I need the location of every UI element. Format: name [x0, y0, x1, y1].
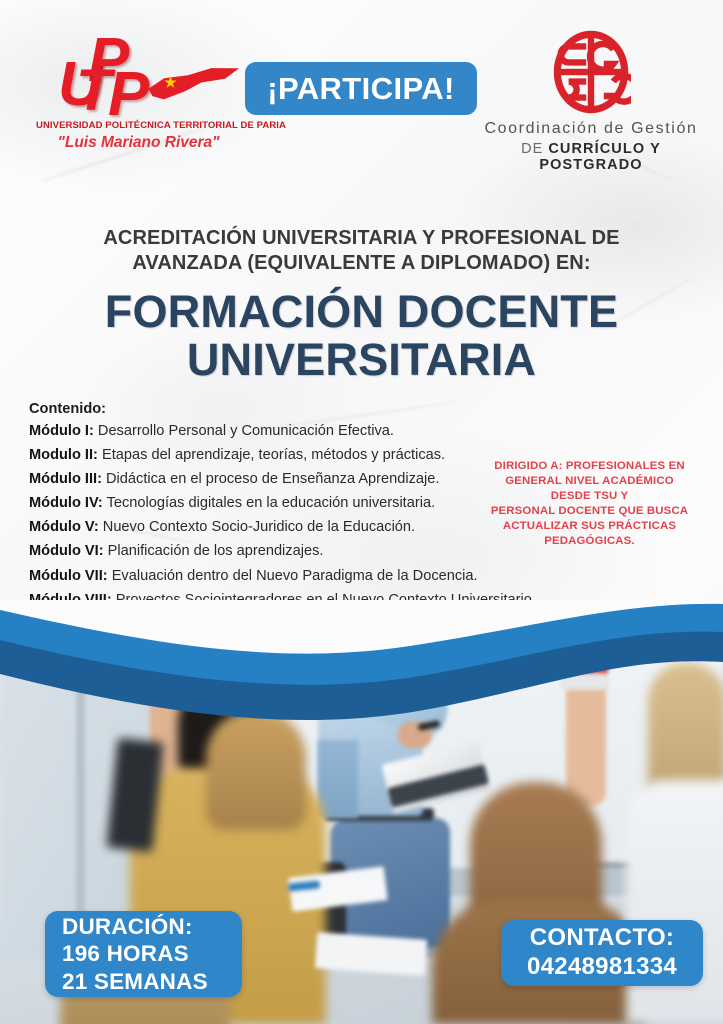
module-label: Módulo III:	[29, 471, 102, 487]
content-heading: Contenido:	[29, 401, 559, 417]
contact-label: CONTACTO:	[530, 924, 674, 953]
contact-badge[interactable]: CONTACTO: 04248981334	[501, 920, 703, 986]
module-text: Evaluación dentro del Nuevo Paradigma de…	[108, 568, 478, 584]
watch-right	[560, 674, 608, 690]
coordination-title: Coordinación de Gestión	[481, 120, 701, 138]
duration-line-2: 196 HORAS	[62, 940, 242, 967]
photo-top-blend	[0, 600, 723, 670]
coordination-logo: Coordinación de Gestión DE CURRÍCULO Y P…	[481, 26, 701, 158]
module-row: Módulo I: Desarrollo Personal y Comunica…	[29, 424, 559, 439]
university-subtitle: "Luis Mariano Rivera"	[36, 134, 241, 152]
uptp-monogram-icon: U P T P	[36, 28, 241, 120]
module-text: Etapas del aprendizaje, teorías, métodos…	[98, 447, 445, 463]
student-head-blond	[206, 710, 306, 830]
module-label: Modulo II:	[29, 447, 98, 463]
audience-note: DIRIGIDO A: PROFESIONALES ENGENERAL NIVE…	[472, 459, 707, 549]
module-text: Planificación de los aprendizajes.	[104, 543, 324, 559]
coordination-subtitle-main: CURRÍCULO Y POSTGRADO	[539, 141, 661, 173]
student-white-shirt	[626, 780, 723, 1024]
audience-line: ACTUALIZAR SUS PRÁCTICAS	[472, 519, 707, 534]
module-row: Módulo VII: Evaluación dentro del Nuevo …	[29, 569, 559, 584]
coordination-subtitle-prefix: DE	[521, 141, 548, 157]
university-name: UNIVERSIDAD POLITÉCNICA TERRITORIAL DE P…	[36, 120, 241, 131]
university-logo: U P T P UNIVERSIDAD POLITÉCNICA TERRITOR…	[36, 28, 241, 163]
duration-badge: DURACIÓN: 196 HORAS 21 SEMANAS	[45, 911, 242, 997]
poster-header: U P T P UNIVERSIDAD POLITÉCNICA TERRITOR…	[0, 0, 723, 175]
module-text: Tecnologías digitales en la educación un…	[103, 495, 435, 511]
poster-canvas: U P T P UNIVERSIDAD POLITÉCNICA TERRITOR…	[0, 0, 723, 1024]
participa-label: ¡PARTICIPA!	[267, 71, 455, 107]
uptp-letter-p2: P	[108, 64, 149, 126]
kicker-line-1: ACREDITACIÓN UNIVERSITARIA Y PROFESIONAL…	[0, 226, 723, 251]
paper-sheet	[315, 932, 427, 976]
page-title: FORMACIÓN DOCENTE UNIVERSITARIA	[0, 288, 723, 384]
module-text: Desarrollo Personal y Comunicación Efect…	[94, 423, 394, 439]
audience-line: GENERAL NIVEL ACADÉMICO	[472, 474, 707, 489]
module-text: Didáctica en el proceso de Enseñanza Apr…	[102, 471, 440, 487]
headline-line-1: FORMACIÓN DOCENTE	[0, 288, 723, 336]
kicker-text: ACREDITACIÓN UNIVERSITARIA Y PROFESIONAL…	[0, 226, 723, 276]
module-label: Módulo I:	[29, 423, 94, 439]
audience-line: PEDAGÓGICAS.	[472, 534, 707, 549]
uptp-letter-t: T	[76, 62, 111, 120]
module-label: Módulo VI:	[29, 543, 104, 559]
headline-line-2: UNIVERSITARIA	[0, 336, 723, 384]
flag-swoosh-icon	[147, 63, 241, 103]
module-label: Módulo VII:	[29, 568, 108, 584]
cg-emblem-icon	[551, 26, 631, 118]
module-label: Módulo IV:	[29, 495, 103, 511]
duration-line-1: DURACIÓN:	[62, 913, 242, 940]
audience-line: PERSONAL DOCENTE QUE BUSCA	[472, 504, 707, 519]
coordination-subtitle: DE CURRÍCULO Y POSTGRADO	[481, 141, 701, 173]
audience-line: DESDE TSU Y	[472, 489, 707, 504]
teacher-shirt-shadow	[318, 740, 358, 818]
contact-phone: 04248981334	[527, 953, 677, 982]
module-label: Módulo V:	[29, 519, 99, 535]
module-text: Nuevo Contexto Socio-Juridico de la Educ…	[99, 519, 415, 535]
kicker-line-2: AVANZADA (EQUIVALENTE A DIPLOMADO) EN:	[0, 251, 723, 276]
participa-badge[interactable]: ¡PARTICIPA!	[245, 62, 477, 115]
duration-line-3: 21 SEMANAS	[62, 968, 242, 995]
audience-line: DIRIGIDO A: PROFESIONALES EN	[472, 459, 707, 474]
